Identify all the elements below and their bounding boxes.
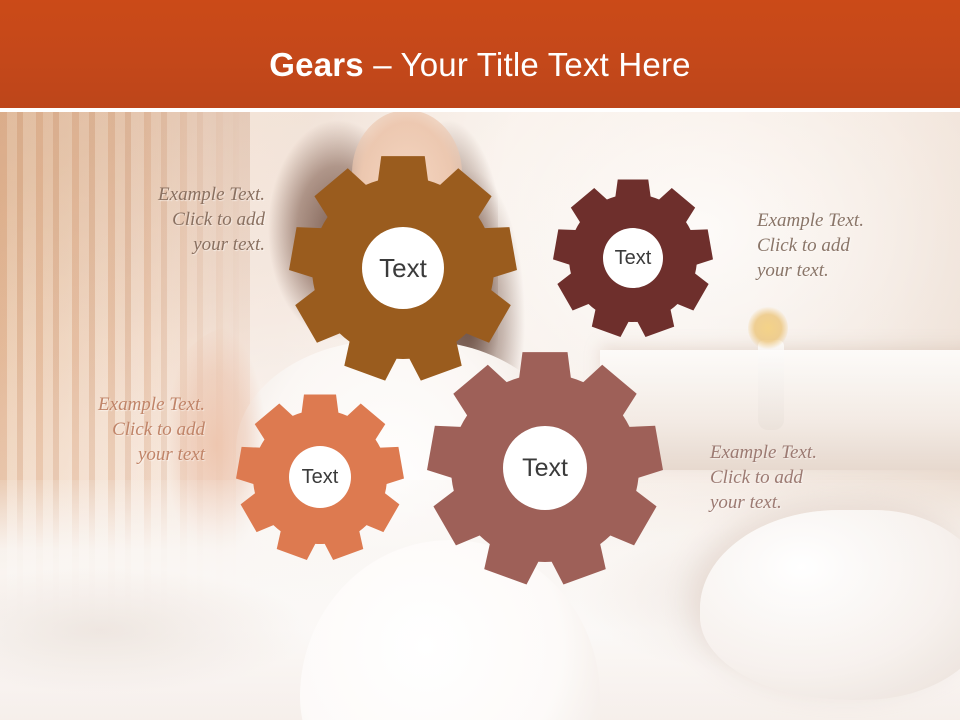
gear-bottom-left-shape [232,389,408,565]
caption-bottom-left-line-3: your text [25,442,205,467]
caption-top-right-line-2: Click to add [757,233,957,258]
gear-bottom-right-hub [503,426,587,510]
caption-top-right-line-1: Example Text. [757,208,957,233]
caption-top-right-line-3: your text. [757,258,957,283]
caption-top-left-line-2: Click to add [80,207,265,232]
gear-bottom-right-shape [423,346,667,590]
page-title-rest: – Your Title Text Here [364,46,691,83]
caption-top-left-line-1: Example Text. [80,182,265,207]
slide-canvas: Gears – Your Title Text Here Text Text T… [0,0,960,720]
caption-bottom-left-line-2: Click to add [25,417,205,442]
caption-bottom-right-line-3: your text. [710,490,910,515]
gear-top-left-hub [362,227,444,309]
gear-top-right-shape [549,174,717,342]
title-banner-underline [0,108,960,112]
gear-top-right[interactable]: Text [549,174,717,342]
caption-bottom-right[interactable]: Example Text. Click to add your text. [710,440,910,515]
gear-top-right-hub [603,228,663,288]
caption-top-left[interactable]: Example Text. Click to add your text. [80,182,265,257]
gear-bottom-left[interactable]: Text [232,389,408,565]
gear-bottom-left-hub [289,446,351,508]
page-title-strong: Gears [269,46,364,83]
caption-bottom-right-line-2: Click to add [710,465,910,490]
caption-bottom-left[interactable]: Example Text. Click to add your text [25,392,205,467]
caption-bottom-left-line-1: Example Text. [25,392,205,417]
page-title: Gears – Your Title Text Here [0,46,960,84]
caption-top-right[interactable]: Example Text. Click to add your text. [757,208,957,283]
caption-top-left-line-3: your text. [80,232,265,257]
gear-bottom-right[interactable]: Text [423,346,667,590]
caption-bottom-right-line-1: Example Text. [710,440,910,465]
